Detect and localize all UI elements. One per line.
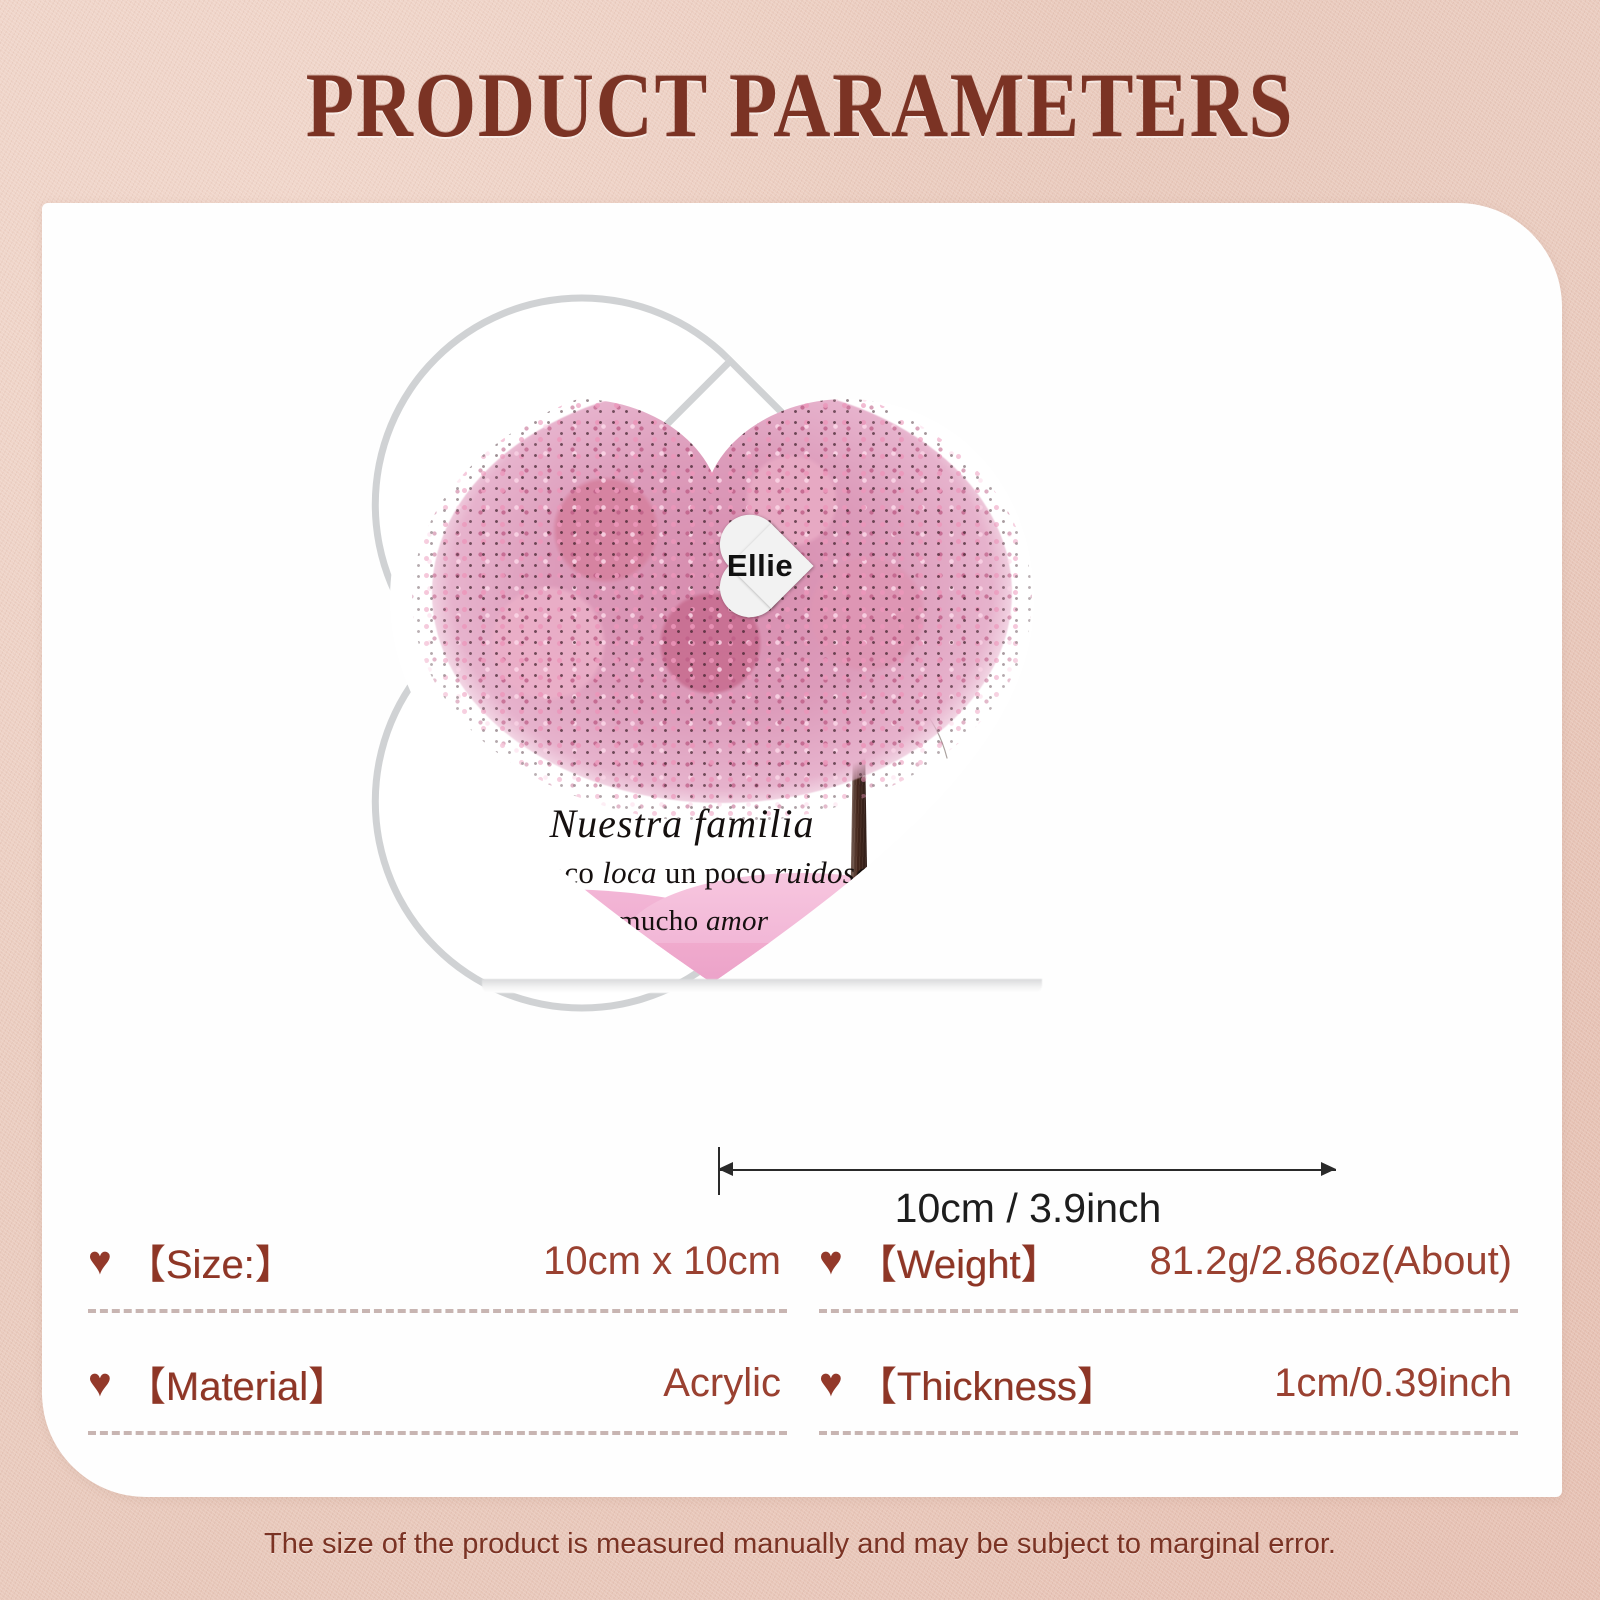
- spec-divider-3: [819, 1309, 1518, 1313]
- spec-spacer-2: [819, 1313, 1518, 1335]
- spec-row-weight: ♥ 【Weight】 81.2g/2.86oz(About): [819, 1213, 1518, 1309]
- spec-divider-1: [88, 1309, 787, 1313]
- spec-value-weight: 81.2g/2.86oz(About): [1150, 1239, 1518, 1284]
- heart-icon: ♥: [88, 1363, 112, 1403]
- heart-icon: ♥: [88, 1241, 112, 1281]
- dim-horz-line: [720, 1169, 1336, 1171]
- spec-label-weight: 【Weight】: [857, 1232, 1061, 1290]
- caption-2-part-b: loca: [602, 855, 657, 890]
- heart-icon: ♥: [819, 1241, 843, 1281]
- spec-label-material: 【Material】: [126, 1354, 348, 1412]
- spec-spacer-1: [88, 1313, 787, 1335]
- spec-value-size: 10cm x 10cm: [543, 1239, 787, 1284]
- footer-note: The size of the product is measured manu…: [0, 1528, 1600, 1561]
- spec-table: ♥ 【Size:】 10cm x 10cm ♥ 【Material】 Acryl…: [88, 1213, 1518, 1435]
- spec-divider-2: [88, 1431, 787, 1435]
- spec-column-gap: [787, 1213, 819, 1435]
- product-image: Ellie Nuestra familia un poco loca un po…: [372, 333, 1072, 1013]
- dim-horz-arrow-left-icon: [718, 1162, 733, 1176]
- spec-label-thickness: 【Thickness】: [857, 1354, 1117, 1412]
- spec-column-left: ♥ 【Size:】 10cm x 10cm ♥ 【Material】 Acryl…: [88, 1213, 787, 1435]
- page-title: PRODUCT PARAMETERS: [112, 52, 1488, 158]
- spec-value-thickness: 1cm/0.39inch: [1274, 1361, 1518, 1406]
- spec-divider-4: [819, 1431, 1518, 1435]
- personalized-name: Ellie: [705, 548, 815, 584]
- dim-horz-arrow-right-icon: [1321, 1162, 1336, 1176]
- spec-column-right: ♥ 【Weight】 81.2g/2.86oz(About) ♥ 【Thickn…: [819, 1213, 1518, 1435]
- parameters-card: Ellie Nuestra familia un poco loca un po…: [42, 203, 1562, 1497]
- spec-label-size: 【Size:】: [126, 1232, 295, 1290]
- spec-row-size: ♥ 【Size:】 10cm x 10cm: [88, 1213, 787, 1309]
- spec-value-material: Acrylic: [663, 1361, 787, 1406]
- name-heart-badge[interactable]: Ellie: [705, 518, 815, 614]
- spec-row-material: ♥ 【Material】 Acrylic: [88, 1335, 787, 1431]
- heart-icon: ♥: [819, 1363, 843, 1403]
- plaque-base-edge: [482, 979, 1042, 993]
- caption-3-part-b: amor: [706, 905, 768, 937]
- caption-2-part-c: un poco: [657, 855, 774, 890]
- spec-row-thickness: ♥ 【Thickness】 1cm/0.39inch: [819, 1335, 1518, 1431]
